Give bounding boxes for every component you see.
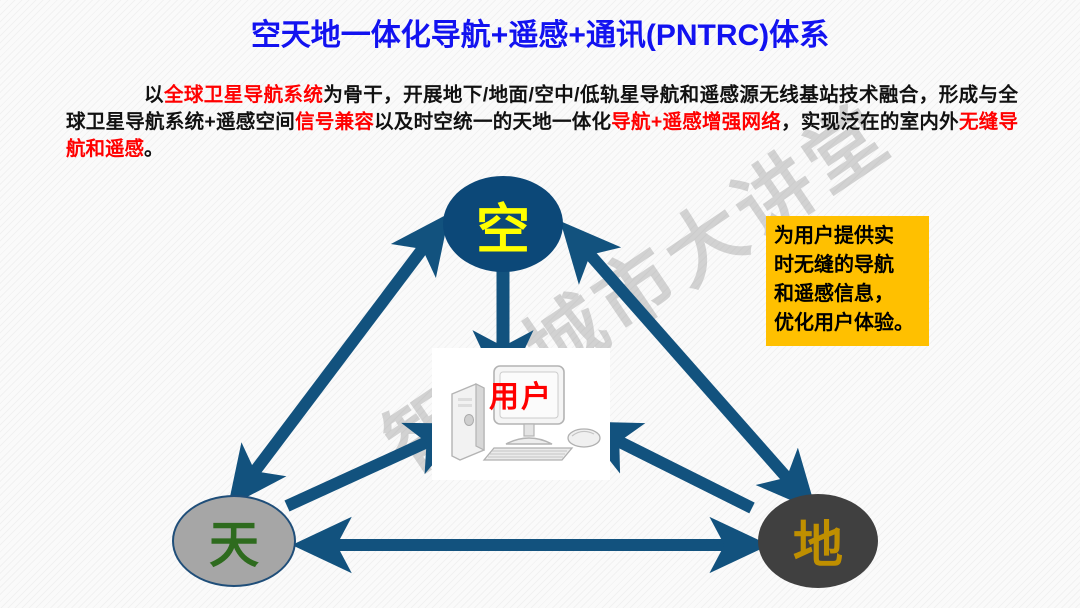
node-space-label: 天 <box>209 505 259 577</box>
callout-line-4: 优化用户体验。 <box>774 309 921 338</box>
body-paragraph: 以全球卫星导航系统为骨干，开展地下/地面/空中/低轨星导航和遥感源无线基站技术融… <box>66 82 1018 163</box>
node-ground-label: 地 <box>793 505 843 577</box>
callout-line-3: 和遥感信息， <box>774 280 921 309</box>
callout-line-2: 时无缝的导航 <box>774 251 921 280</box>
slide-canvas: 空天地一体化导航+遥感+通讯(PNTRC)体系 以全球卫星导航系统为骨干，开展地… <box>0 0 1080 608</box>
node-sky[interactable]: 空 <box>443 176 563 272</box>
user-label: 用户 <box>432 372 610 416</box>
body-highlight-signal-compat: 信号兼容 <box>295 111 374 133</box>
arrow-space-user <box>287 437 438 506</box>
node-sky-label: 空 <box>476 185 530 264</box>
callout-box: 为用户提供实 时无缝的导航 和遥感信息， 优化用户体验。 <box>766 216 929 346</box>
body-highlight-gnss: 全球卫星导航系统 <box>164 84 323 106</box>
body-highlight-augment-network: 导航+遥感增强网络 <box>611 111 781 133</box>
callout-line-1: 为用户提供实 <box>774 222 921 251</box>
body-segment-7: ，实现泛在的室内外 <box>781 111 959 133</box>
user-node: 用户 <box>432 348 610 480</box>
arrow-ground-user <box>608 436 752 508</box>
body-segment-1: 以 <box>144 84 164 106</box>
node-ground[interactable]: 地 <box>758 494 878 588</box>
page-title: 空天地一体化导航+遥感+通讯(PNTRC)体系 <box>0 18 1080 54</box>
body-segment-5: 以及时空统一的天地一体化 <box>374 111 611 133</box>
body-segment-9: 。 <box>144 138 164 160</box>
node-space[interactable]: 天 <box>172 495 296 587</box>
